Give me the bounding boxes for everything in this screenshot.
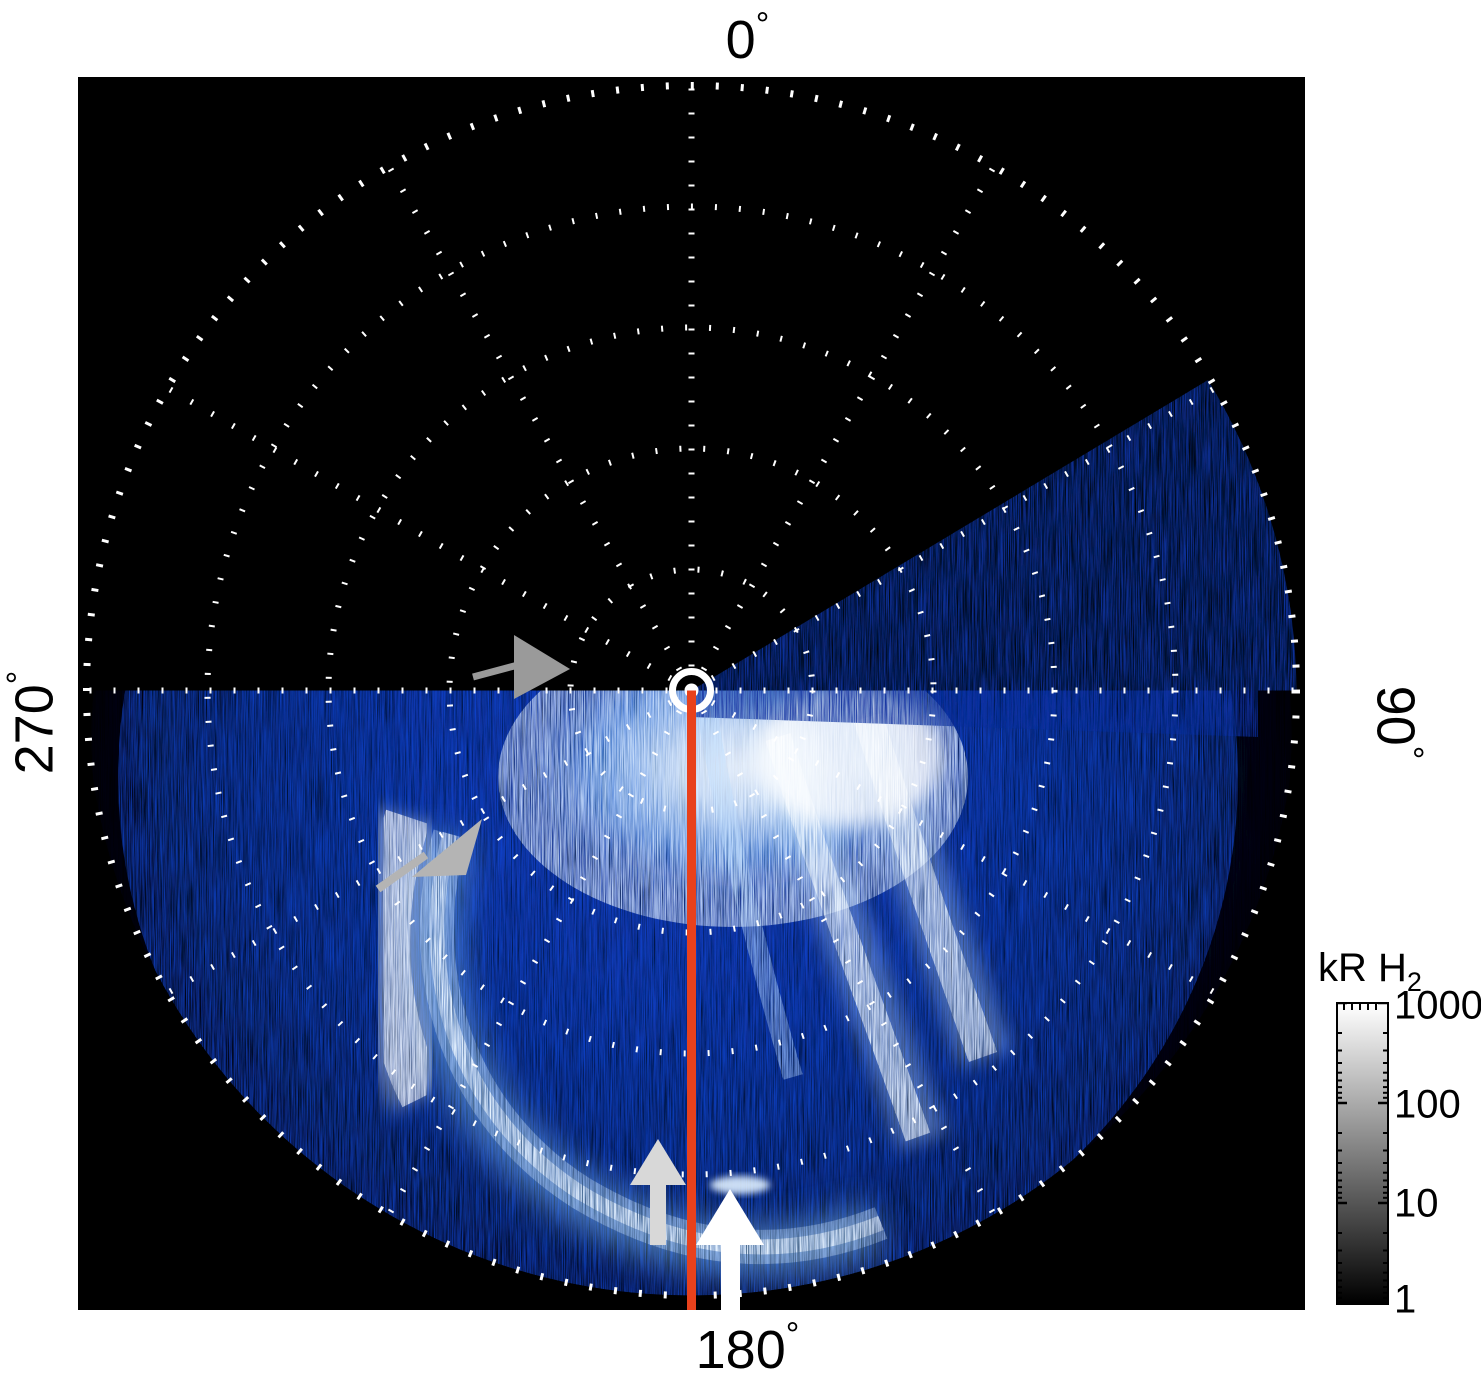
degree-symbol: ° xyxy=(756,6,770,44)
colorbar-tick-label-100: 100 xyxy=(1394,1083,1461,1128)
axis-label-180deg-text: 180 xyxy=(696,1320,786,1380)
degree-symbol: ° xyxy=(1,671,39,685)
axis-label-180deg: 180° xyxy=(0,1318,1481,1377)
figure-canvas: 0° 180° 270° 90° kR H2 xyxy=(0,0,1481,1386)
axis-label-90deg-text: 90 xyxy=(1366,686,1426,746)
axis-label-0deg: 0° xyxy=(0,8,1481,67)
colorbar-tick-marks xyxy=(1336,1002,1389,1305)
axis-label-0deg-text: 0 xyxy=(726,10,756,70)
colorbar-tick-labels: 1000 100 10 1 xyxy=(1390,1002,1481,1305)
polar-plot-panel xyxy=(78,77,1305,1310)
colorbar-tick-label-1: 1 xyxy=(1394,1278,1416,1323)
colorbar-tick-label-1000: 1000 xyxy=(1394,984,1481,1029)
degree-symbol: ° xyxy=(1392,746,1430,760)
colorbar-tick-label-10: 10 xyxy=(1394,1182,1439,1227)
polar-projection-svg xyxy=(78,77,1305,1310)
axis-label-270deg: 270° xyxy=(3,643,62,803)
axis-label-270deg-text: 270 xyxy=(5,684,65,774)
degree-symbol: ° xyxy=(786,1316,800,1354)
axis-label-90deg: 90° xyxy=(1369,643,1428,803)
